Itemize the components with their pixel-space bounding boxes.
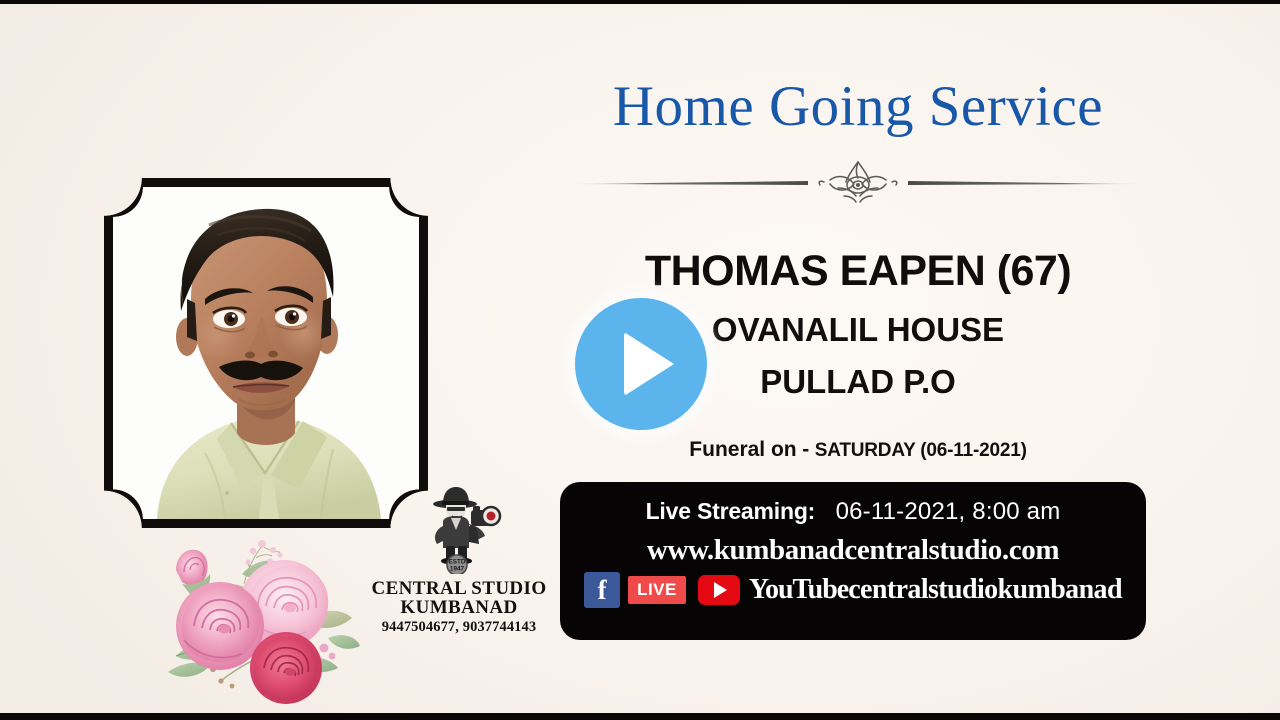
ornamental-divider-icon (562, 158, 1154, 206)
studio-credit-block: ESTD 1947 CENTRAL STUDIO KUMBANAD 944750… (368, 482, 550, 636)
deceased-name: THOMAS EAPEN (67) (562, 250, 1154, 293)
estd-line1: ESTD (448, 559, 465, 566)
youtube-icon[interactable] (698, 575, 740, 605)
funeral-date-line: Funeral on - SATURDAY (06-11-2021) (562, 438, 1154, 462)
live-streaming-label: Live Streaming: (646, 498, 816, 524)
social-row: f LIVE YouTube centralstudiokumbanad (560, 572, 1146, 608)
live-streaming-row: Live Streaming: 06-11-2021, 8:00 am (560, 498, 1146, 526)
cameraman-logo-icon: ESTD 1947 (399, 482, 519, 574)
portrait-photo-area (113, 187, 419, 519)
live-streaming-panel: Live Streaming: 06-11-2021, 8:00 am www.… (560, 482, 1146, 640)
portrait-photo (113, 187, 419, 519)
studio-phone-numbers: 9447504677, 9037744143 (368, 619, 550, 636)
play-button[interactable] (568, 291, 714, 437)
letterbox-bottom (0, 713, 1280, 720)
portrait-frame-wrapper (104, 178, 428, 528)
page-title: Home Going Service (562, 78, 1154, 135)
facebook-glyph: f (598, 577, 607, 604)
home-going-service-card: ESTD 1947 CENTRAL STUDIO KUMBANAD 944750… (0, 0, 1280, 720)
live-badge: LIVE (628, 576, 686, 604)
funeral-label: Funeral on (689, 438, 796, 461)
youtube-wordmark: YouTube (749, 574, 848, 606)
funeral-value: SATURDAY (06-11-2021) (815, 440, 1027, 461)
studio-name-line2: KUMBANAD (368, 598, 550, 618)
letterbox-top (0, 0, 1280, 4)
funeral-separator: - (802, 438, 809, 461)
studio-name-line1: CENTRAL STUDIO (368, 579, 550, 598)
youtube-channel-handle[interactable]: centralstudiokumbanad (848, 574, 1122, 606)
facebook-icon[interactable]: f (584, 572, 620, 608)
youtube-play-glyph (714, 582, 727, 598)
live-website-url[interactable]: www.kumbanadcentralstudio.com (560, 534, 1146, 567)
play-icon (624, 332, 674, 396)
rose-bouquet-icon (152, 528, 364, 704)
live-streaming-datetime: 06-11-2021, 8:00 am (836, 498, 1061, 525)
estd-line2: 1947 (450, 566, 465, 573)
